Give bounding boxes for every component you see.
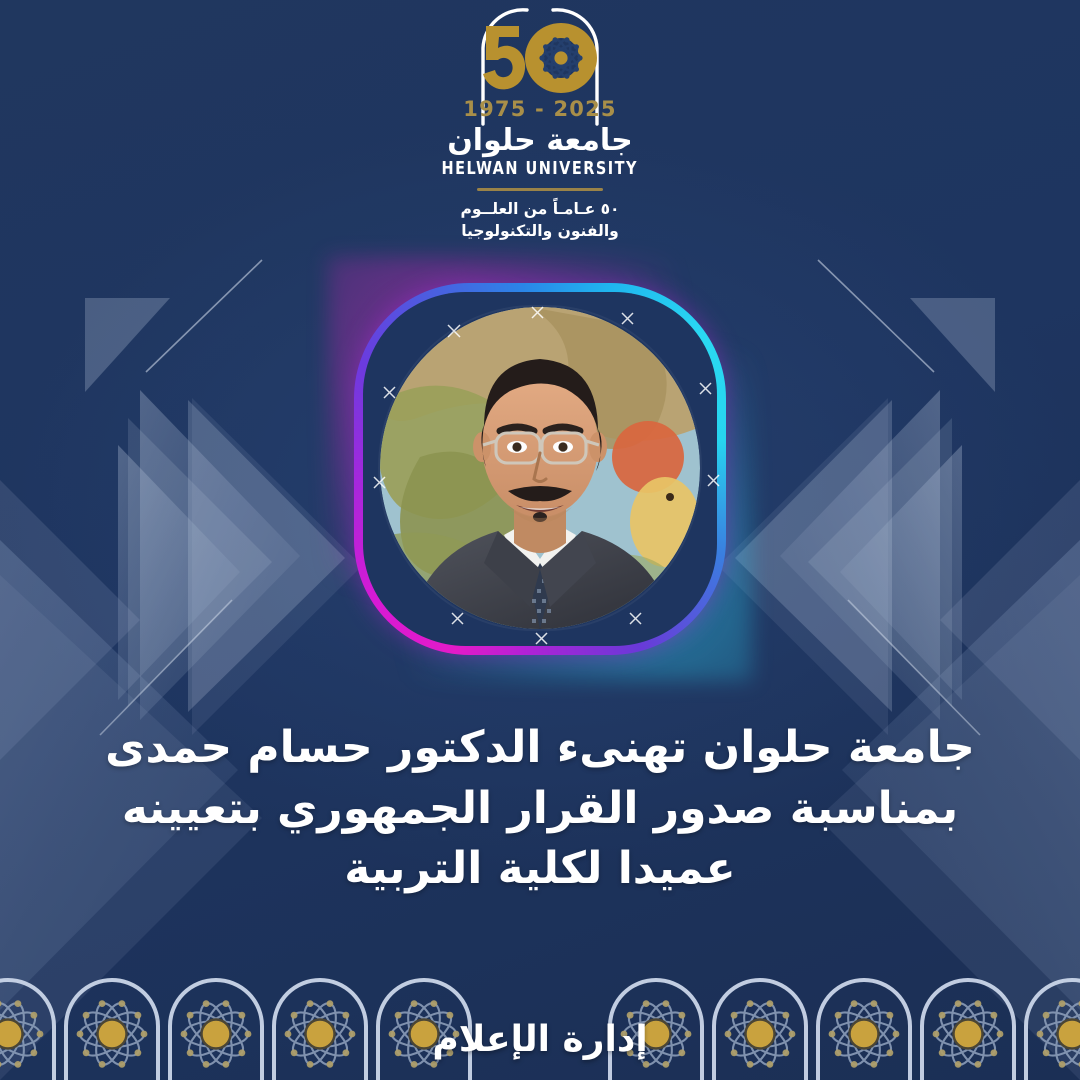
footer-label: إدارة الإعلام [432, 1019, 647, 1060]
footer-motifs-right [610, 980, 1080, 1080]
headline-line-2: بمناسبة صدور القرار الجمهوري بتعيينه [70, 779, 1010, 840]
logo-tagline-line-2: والفنون والتكنولوجيا [461, 220, 620, 242]
logo-wordmark-arabic: جامعة حلوان [447, 126, 633, 156]
footer-motifs-left [0, 980, 470, 1080]
logo-wordmark-english: HELWAN UNIVERSITY [442, 159, 638, 179]
university-logo: 1975 - 2025 جامعة حلوان HELWAN UNIVERSIT… [0, 4, 1080, 242]
avatar [380, 307, 700, 629]
anniversary-years: 1975 - 2025 [463, 97, 616, 121]
logo-divider [477, 188, 603, 191]
announcement-poster: 1975 - 2025 جامعة حلوان HELWAN UNIVERSIT… [0, 0, 1080, 1080]
logo-tagline-line-1: ٥٠ عـامـاً من العلــوم [461, 198, 620, 220]
headline-line-3: عميدا لكلية التربية [70, 839, 1010, 900]
footer-band: إدارة الإعلام [0, 968, 1080, 1080]
deco-triangles-left [0, 260, 362, 1080]
headline-line-1: جامعة حلوان تهنىء الدكتور حسام حمدى [70, 718, 1010, 779]
portrait-frame [354, 283, 726, 655]
anniversary-emblem: 1975 - 2025 [445, 4, 635, 126]
deco-triangles-right [718, 260, 1080, 1080]
logo-tagline: ٥٠ عـامـاً من العلــوم والفنون والتكنولو… [461, 198, 620, 242]
page-title: جامعة حلوان تهنىء الدكتور حسام حمدى بمنا… [70, 718, 1010, 900]
